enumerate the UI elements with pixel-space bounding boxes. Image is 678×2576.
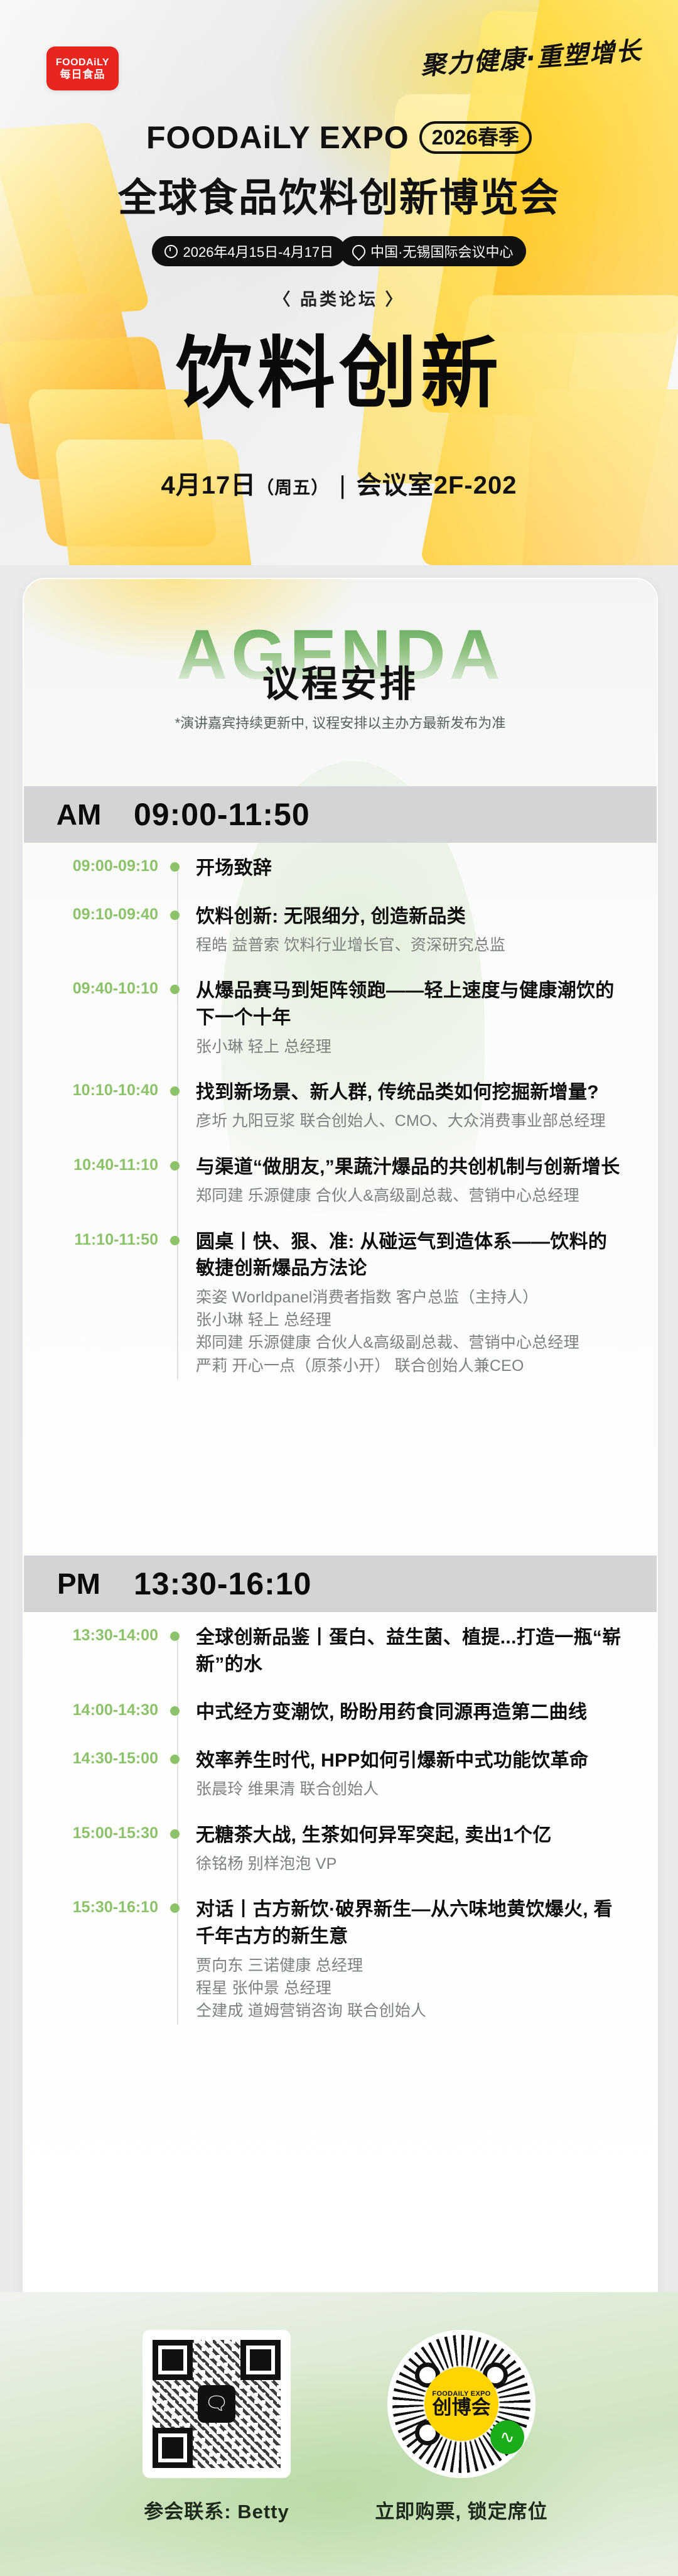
agenda-row-title: 开场致辞: [196, 855, 624, 882]
ticket-qr-code[interactable]: FOODAILY EXPO 创博会 ∿: [387, 2330, 535, 2478]
agenda-row-body: 饮料创新: 无限细分, 创造新品类程皓 益普索 饮料行业增长官、资深研究总监: [196, 904, 657, 957]
qr-finder-bottom-left: [153, 2428, 193, 2468]
forum-meta-separator: |: [339, 472, 346, 500]
hero-section: FOODAiLY 每日食品 聚力健康·重塑增长 FOODAiLY EXPO 20…: [0, 0, 678, 565]
timeline-dot-icon: [170, 1161, 180, 1171]
agenda-row-marker: [158, 1699, 196, 1726]
agenda-row-time: 10:40-11:10: [24, 1154, 158, 1208]
ticket-qr-block[interactable]: FOODAILY EXPO 创博会 ∿ 立即购票, 锁定席位: [386, 2330, 537, 2524]
expo-title-block: FOODAiLY EXPO 2026春季 全球食品饮料创新博览会 2026年4月…: [0, 119, 678, 266]
agenda-row-time: 10:10-10:40: [24, 1080, 158, 1133]
session-band-pm: PM13:30-16:10: [24, 1556, 657, 1612]
ticket-qr-caption: 立即购票, 锁定席位: [375, 2496, 547, 2524]
foodaily-logo: FOODAiLY 每日食品: [46, 46, 119, 90]
agenda-title: 议程安排: [24, 654, 657, 707]
agenda-row: 14:00-14:30中式经方变潮饮, 盼盼用药食同源再造第二曲线: [24, 1699, 657, 1726]
agenda-row: 10:10-10:40找到新场景、新人群, 传统品类如何挖掘新增量?彦圻 九阳豆…: [24, 1080, 657, 1133]
agenda-row-speakers: 贾向东 三诺健康 总经理程星 张仲景 总经理仝建成 道姆营销咨询 联合创始人: [196, 1954, 624, 2023]
agenda-row-body: 从爆品赛马到矩阵领跑——轻上速度与健康潮饮的下一个十年张小琳 轻上 总经理: [196, 978, 657, 1058]
expo-meta-row: 2026年4月15日-4月17日 中国·无锡国际会议中心: [0, 236, 678, 266]
agenda-row-marker: [158, 1080, 196, 1133]
speaker-line: 张小琳 轻上 总经理: [196, 1036, 624, 1058]
agenda-row-title: 全球创新品鉴丨蛋白、益生菌、植提...打造一瓶“崭新”的水: [196, 1625, 624, 1678]
timeline-dot-icon: [170, 862, 180, 872]
expo-venue-pill: 中国·无锡国际会议中心: [340, 236, 525, 266]
expo-date-pill: 2026年4月15日-4月17日: [152, 236, 346, 266]
timeline-dot-icon: [170, 1632, 180, 1641]
logo-cn-text: 每日食品: [60, 69, 105, 80]
speaker-line: 郑同建 乐源健康 合伙人&高级副总裁、营销中心总经理: [196, 1331, 624, 1354]
expo-venue-text: 中国·无锡国际会议中心: [370, 241, 513, 261]
agenda-row-body: 圆桌丨快、狠、准: 从碰运气到造体系——饮料的敏捷创新爆品方法论栾姿 World…: [196, 1229, 657, 1377]
agenda-row-marker: [158, 1625, 196, 1678]
agenda-row: 09:40-10:10从爆品赛马到矩阵领跑——轻上速度与健康潮饮的下一个十年张小…: [24, 978, 657, 1058]
agenda-row-speakers: 彦圻 九阳豆浆 联合创始人、CMO、大众消费事业部总经理: [196, 1110, 624, 1132]
poster-root: FOODAiLY 每日食品 聚力健康·重塑增长 FOODAiLY EXPO 20…: [0, 0, 678, 2576]
speaker-line: 张晨玲 维果清 联合创始人: [196, 1778, 624, 1800]
agenda-row-time: 09:00-09:10: [24, 855, 158, 882]
contact-qr-code[interactable]: 🗨: [143, 2330, 291, 2478]
forum-meta: 4月17日（周五）|会议室2F-202: [0, 465, 678, 501]
agenda-row-time: 15:00-15:30: [24, 1822, 158, 1876]
agenda-row-marker: [158, 1822, 196, 1876]
session-rows-am: 09:00-09:10开场致辞09:10-09:40饮料创新: 无限细分, 创造…: [24, 855, 657, 1399]
agenda-row-title: 饮料创新: 无限细分, 创造新品类: [196, 904, 624, 931]
agenda-row-body: 开场致辞: [196, 855, 657, 882]
agenda-row-marker: [158, 904, 196, 957]
timeline-dot-icon: [170, 1236, 180, 1245]
speaker-line: 徐铭杨 别样泡泡 VP: [196, 1853, 624, 1875]
agenda-row-body: 对话丨古方新饮·破界新生—从六味地黄饮爆火, 看千年古方的新生意贾向东 三诺健康…: [196, 1897, 657, 2022]
expo-edition-badge: 2026春季: [419, 121, 532, 154]
agenda-row-title: 对话丨古方新饮·破界新生—从六味地黄饮爆火, 看千年古方的新生意: [196, 1897, 624, 1950]
speaker-line: 严莉 开心一点（原茶小开） 联合创始人兼CEO: [196, 1355, 624, 1377]
expo-title-line: FOODAiLY EXPO 2026春季: [0, 119, 678, 156]
timeline-dot-icon: [170, 1086, 180, 1096]
agenda-row-time: 13:30-14:00: [24, 1625, 158, 1678]
qr-center-logo: FOODAILY EXPO 创博会: [424, 2367, 498, 2441]
expo-date-text: 2026年4月15日-4月17日: [183, 241, 333, 261]
agenda-row: 15:00-15:30无糖茶大战, 生茶如何异军突起, 卖出1个亿徐铭杨 别样泡…: [24, 1822, 657, 1876]
contact-qr-block[interactable]: 🗨 参会联系: Betty: [141, 2330, 292, 2524]
qr-finder-top-left: [153, 2340, 193, 2380]
agenda-row-time: 14:00-14:30: [24, 1699, 158, 1726]
qr-logo-cn: 创博会: [433, 2398, 491, 2418]
agenda-row-body: 无糖茶大战, 生茶如何异军突起, 卖出1个亿徐铭杨 别样泡泡 VP: [196, 1822, 657, 1876]
session-period-label: PM: [24, 1567, 134, 1601]
expo-name-en: FOODAiLY EXPO: [146, 119, 409, 156]
agenda-row: 11:10-11:50圆桌丨快、狠、准: 从碰运气到造体系——饮料的敏捷创新爆品…: [24, 1229, 657, 1377]
speaker-line: 郑同建 乐源健康 合伙人&高级副总裁、营销中心总经理: [196, 1184, 624, 1207]
agenda-row-title: 无糖茶大战, 生茶如何异军突起, 卖出1个亿: [196, 1822, 624, 1849]
speaker-line: 仝建成 道姆营销咨询 联合创始人: [196, 2000, 624, 2022]
agenda-row-time: 15:30-16:10: [24, 1897, 158, 2022]
agenda-row-speakers: 徐铭杨 别样泡泡 VP: [196, 1853, 624, 1875]
agenda-row-speakers: 郑同建 乐源健康 合伙人&高级副总裁、营销中心总经理: [196, 1184, 624, 1207]
agenda-row-time: 09:10-09:40: [24, 904, 158, 957]
forum-category-tag: 〈 品类论坛 〉: [0, 286, 678, 310]
agenda-row-time: 14:30-15:00: [24, 1748, 158, 1801]
timeline-dot-icon: [170, 1706, 180, 1716]
agenda-row: 14:30-15:00效率养生时代, HPP如何引爆新中式功能饮革命张晨玲 维果…: [24, 1748, 657, 1801]
agenda-row-marker: [158, 1897, 196, 2022]
timeline-dot-icon: [170, 911, 180, 920]
session-rows-pm: 13:30-14:00全球创新品鉴丨蛋白、益生菌、植提...打造一瓶“崭新”的水…: [24, 1625, 657, 2043]
timeline-dot-icon: [170, 985, 180, 994]
timeline-dot-icon: [170, 1903, 180, 1913]
agenda-row-speakers: 程皓 益普索 饮料行业增长官、资深研究总监: [196, 934, 624, 956]
agenda-row-body: 与渠道“做朋友,”果蔬汁爆品的共创机制与创新增长郑同建 乐源健康 合伙人&高级副…: [196, 1154, 657, 1208]
agenda-row: 09:10-09:40饮料创新: 无限细分, 创造新品类程皓 益普索 饮料行业增…: [24, 904, 657, 957]
expo-name-cn: 全球食品饮料创新博览会: [0, 166, 678, 222]
agenda-row-speakers: 张小琳 轻上 总经理: [196, 1036, 624, 1058]
agenda-row-title: 圆桌丨快、狠、准: 从碰运气到造体系——饮料的敏捷创新爆品方法论: [196, 1229, 624, 1282]
agenda-row-time: 11:10-11:50: [24, 1229, 158, 1377]
agenda-row-marker: [158, 1154, 196, 1208]
speaker-line: 程皓 益普索 饮料行业增长官、资深研究总监: [196, 934, 624, 956]
wechat-miniprogram-icon: ∿: [490, 2420, 524, 2454]
agenda-row-title: 中式经方变潮饮, 盼盼用药食同源再造第二曲线: [196, 1699, 624, 1726]
agenda-row-marker: [158, 1229, 196, 1377]
forum-room: 会议室2F-202: [357, 472, 517, 499]
agenda-row-time: 09:40-10:10: [24, 978, 158, 1058]
agenda-row-marker: [158, 1748, 196, 1801]
agenda-card: AGENDA 议程安排 *演讲嘉宾持续更新中, 议程安排以主办方最新发布为准 A…: [23, 578, 658, 2314]
speaker-line: 程星 张仲景 总经理: [196, 1977, 624, 2000]
agenda-row: 10:40-11:10与渠道“做朋友,”果蔬汁爆品的共创机制与创新增长郑同建 乐…: [24, 1154, 657, 1208]
clock-icon: [164, 245, 178, 258]
wechat-icon: 🗨: [198, 2385, 235, 2423]
agenda-row-title: 效率养生时代, HPP如何引爆新中式功能饮革命: [196, 1748, 624, 1775]
agenda-row-body: 找到新场景、新人群, 传统品类如何挖掘新增量?彦圻 九阳豆浆 联合创始人、CMO…: [196, 1080, 657, 1133]
qr-finder-top-right: [240, 2340, 281, 2380]
session-time-range: 09:00-11:50: [134, 796, 310, 833]
forum-weekday: （周五）: [256, 478, 329, 497]
footer-section: 🗨 参会联系: Betty FOODAILY EXPO 创博会 ∿ 立即购票, …: [0, 2292, 678, 2576]
qr-row: 🗨 参会联系: Betty FOODAILY EXPO 创博会 ∿ 立即购票, …: [0, 2330, 678, 2524]
agenda-row-title: 找到新场景、新人群, 传统品类如何挖掘新增量?: [196, 1080, 624, 1107]
session-period-label: AM: [24, 798, 134, 831]
timeline-dot-icon: [170, 1755, 180, 1764]
timeline-dot-icon: [170, 1829, 180, 1839]
forum-date: 4月17日: [161, 472, 257, 499]
contact-qr-caption: 参会联系: Betty: [144, 2496, 289, 2524]
speaker-line: 彦圻 九阳豆浆 联合创始人、CMO、大众消费事业部总经理: [196, 1110, 624, 1132]
speaker-line: 栾姿 Worldpanel消费者指数 客户总监（主持人）: [196, 1286, 624, 1309]
location-pin-icon: [350, 242, 369, 261]
forum-title: 饮料创新: [0, 333, 678, 414]
agenda-row: 09:00-09:10开场致辞: [24, 855, 657, 882]
speaker-line: 贾向东 三诺健康 总经理: [196, 1954, 624, 1977]
agenda-row-title: 与渠道“做朋友,”果蔬汁爆品的共创机制与创新增长: [196, 1154, 624, 1181]
agenda-row-speakers: 张晨玲 维果清 联合创始人: [196, 1778, 624, 1800]
agenda-row-marker: [158, 855, 196, 882]
agenda-row: 15:30-16:10对话丨古方新饮·破界新生—从六味地黄饮爆火, 看千年古方的…: [24, 1897, 657, 2022]
speaker-line: 张小琳 轻上 总经理: [196, 1309, 624, 1331]
agenda-row-body: 效率养生时代, HPP如何引爆新中式功能饮革命张晨玲 维果清 联合创始人: [196, 1748, 657, 1801]
agenda-row-speakers: 栾姿 Worldpanel消费者指数 客户总监（主持人）张小琳 轻上 总经理郑同…: [196, 1286, 624, 1377]
agenda-row: 13:30-14:00全球创新品鉴丨蛋白、益生菌、植提...打造一瓶“崭新”的水: [24, 1625, 657, 1678]
session-time-range: 13:30-16:10: [134, 1566, 311, 1602]
agenda-row-marker: [158, 978, 196, 1058]
logo-en-text: FOODAiLY: [56, 58, 109, 68]
agenda-row-body: 全球创新品鉴丨蛋白、益生菌、植提...打造一瓶“崭新”的水: [196, 1625, 657, 1678]
agenda-row-body: 中式经方变潮饮, 盼盼用药食同源再造第二曲线: [196, 1699, 657, 1726]
agenda-note: *演讲嘉宾持续更新中, 议程安排以主办方最新发布为准: [24, 712, 657, 732]
agenda-row-title: 从爆品赛马到矩阵领跑——轻上速度与健康潮饮的下一个十年: [196, 978, 624, 1031]
session-band-am: AM09:00-11:50: [24, 786, 657, 843]
